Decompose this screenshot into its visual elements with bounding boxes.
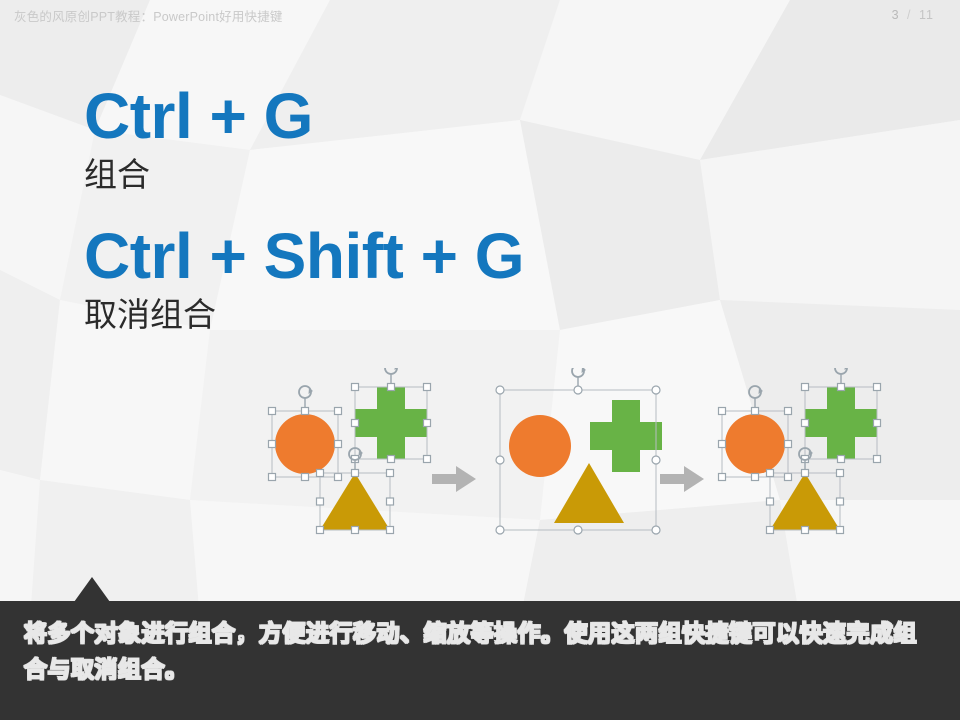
- illustration-sequence: [260, 368, 900, 553]
- shortcut-description-ungroup: 取消组合: [84, 296, 524, 334]
- slide-canvas: 灰色的风原创PPT教程：PowerPoint好用快捷键 3 / 11 Ctrl …: [0, 0, 960, 720]
- shortcut-block-ungroup: Ctrl + Shift + G 取消组合: [84, 224, 524, 334]
- key-ctrl: Ctrl: [84, 80, 192, 152]
- key-g: G: [264, 80, 313, 152]
- key-ctrl: Ctrl: [84, 220, 192, 292]
- caption-banner-notch: [74, 577, 110, 602]
- header-title: 灰色的风原创PPT教程：PowerPoint好用快捷键: [14, 6, 283, 25]
- page-number-current: 3: [892, 8, 900, 22]
- page-number-total: 11: [919, 8, 934, 22]
- plus-sign: +: [421, 220, 458, 292]
- shape-triangle: [320, 473, 390, 530]
- shape-circle: [725, 414, 785, 474]
- shortcut-block-group: Ctrl + G 组合: [84, 84, 313, 194]
- shape-cross: [805, 387, 877, 459]
- key-g: G: [475, 220, 524, 292]
- shape-circle: [275, 414, 335, 474]
- page-number: 3 / 11: [892, 8, 934, 22]
- page-number-separator: /: [907, 8, 911, 22]
- illustration-stage-ungrouped-after: [710, 368, 895, 553]
- arrow-right-icon-2: [660, 464, 706, 494]
- illustration-stage-grouped: [482, 368, 667, 553]
- plus-sign: +: [210, 220, 247, 292]
- shortcut-description-group: 组合: [84, 156, 313, 194]
- slide-header: 灰色的风原创PPT教程：PowerPoint好用快捷键 3 / 11: [0, 0, 960, 30]
- shape-triangle: [770, 473, 840, 530]
- arrow-right-icon-1: [432, 464, 478, 494]
- shape-circle: [509, 415, 571, 477]
- shortcut-keys-group: Ctrl + G: [84, 84, 313, 148]
- key-shift: Shift: [264, 220, 404, 292]
- shape-cross: [590, 400, 662, 472]
- caption-text: 将多个对象进行组合，方便进行移动、缩放等操作。使用这两组快捷键可以快速完成组合与…: [24, 616, 940, 687]
- illustration-stage-ungrouped-before: [260, 368, 445, 553]
- shortcut-keys-ungroup: Ctrl + Shift + G: [84, 224, 524, 288]
- shape-cross: [355, 387, 427, 459]
- plus-sign: +: [210, 80, 247, 152]
